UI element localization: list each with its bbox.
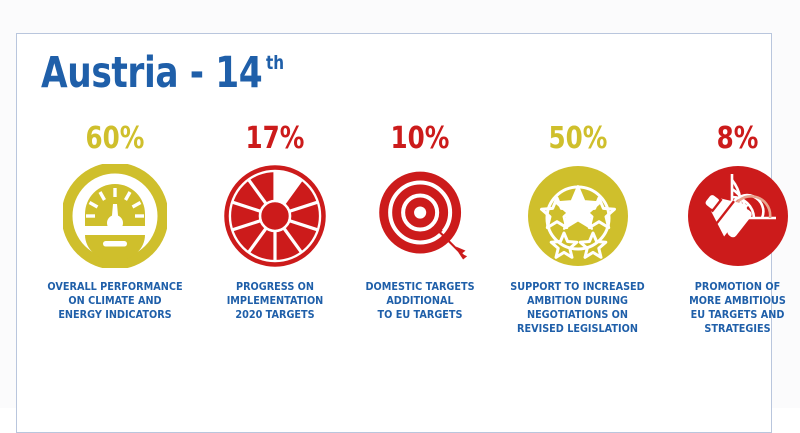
metric-column-support-ambition: 50% — [495, 124, 660, 336]
metric-column-promotion: 8% — [660, 124, 800, 336]
metric-percent-value: 10% — [391, 124, 450, 154]
metric-column-domestic-targets: 10% — [345, 124, 495, 322]
metric-caption: DOMESTIC TARGETS ADDITIONAL TO EU TARGET… — [354, 280, 486, 322]
metric-caption: PROGRESS ON IMPLEMENTATION 2020 TARGETS — [213, 280, 336, 322]
pie-wheel-icon — [223, 164, 327, 268]
metric-caption: OVERALL PERFORMANCE ON CLIMATE AND ENERG… — [36, 280, 194, 322]
page-title: Austria - 14 th — [41, 52, 288, 95]
eu-stars-icon — [526, 164, 630, 268]
target-arrow-icon — [368, 164, 472, 268]
megaphone-icon — [686, 164, 790, 268]
metric-percent-value: 60% — [86, 124, 145, 154]
metric-caption: PROMOTION OF MORE AMBITIOUS EU TARGETS A… — [669, 280, 800, 336]
gauge-icon — [63, 164, 167, 268]
metric-percent-value: 17% — [246, 124, 305, 154]
infographic-page: Austria - 14 th 60% — [0, 0, 800, 408]
metric-caption: SUPPORT TO INCREASED AMBITION DURING NEG… — [505, 280, 650, 336]
country-scorecard-card: Austria - 14 th 60% — [16, 33, 772, 433]
metric-column-progress-implementation: 17% — [205, 124, 345, 322]
metric-column-overall-performance: 60% — [25, 124, 205, 322]
rank-ordinal-suffix: th — [266, 54, 284, 73]
country-rank-title: Austria - 14 — [41, 52, 262, 95]
metric-percent-value: 50% — [548, 124, 607, 154]
metric-percent-value: 8% — [717, 124, 759, 154]
metrics-row: 60% — [25, 124, 765, 336]
